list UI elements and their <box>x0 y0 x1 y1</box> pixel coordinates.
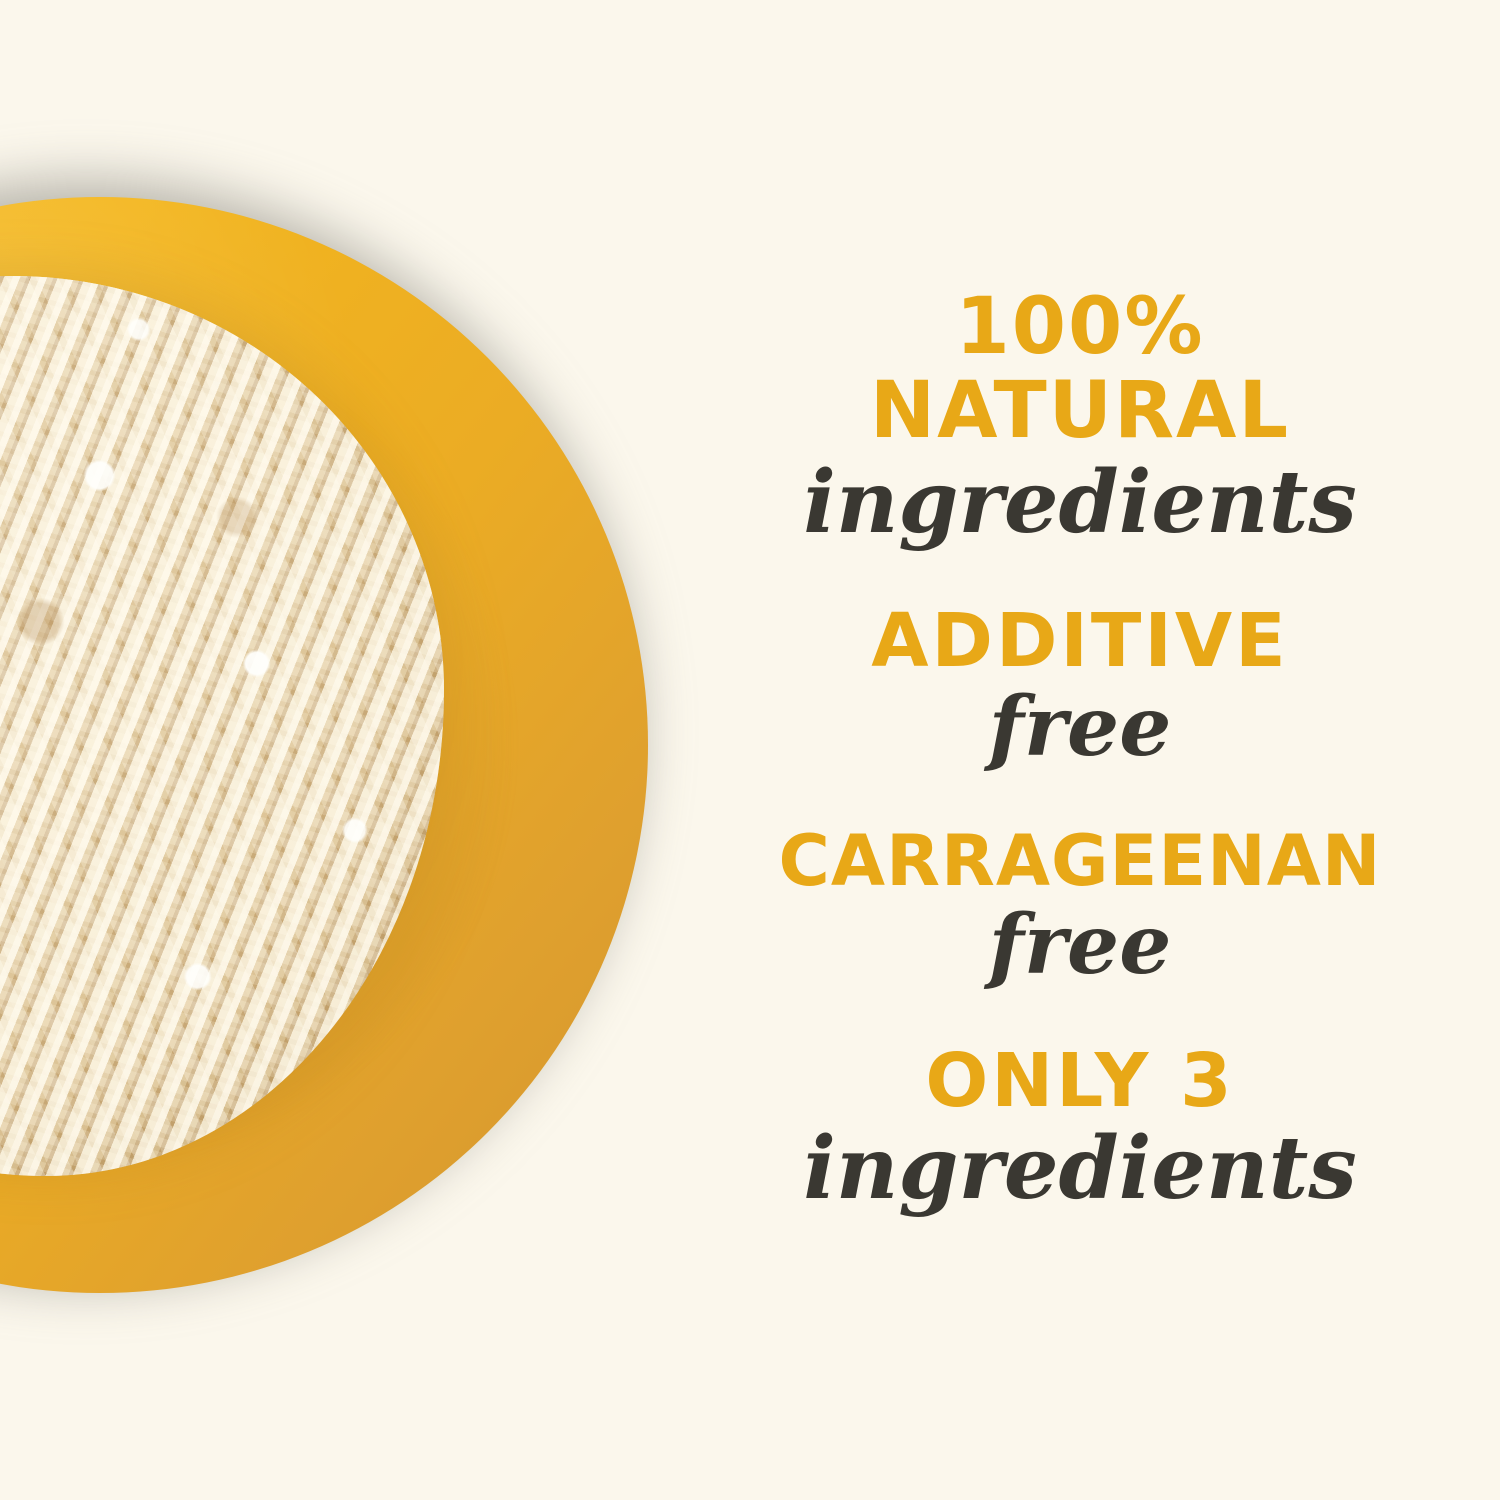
claim-headline-carrageenan: CARRAGEENAN <box>760 826 1400 896</box>
shredded-chicken-and-rice <box>0 276 444 1176</box>
claim-script-free: free <box>760 686 1400 768</box>
claims-list: 100% NATURAL ingredients ADDITIVE free C… <box>760 0 1400 1500</box>
claim-script-ingredients: ingredients <box>760 460 1400 546</box>
claim-headline-only-3: ONLY 3 <box>760 1044 1400 1118</box>
claim-natural-ingredients: 100% NATURAL ingredients <box>760 288 1400 546</box>
product-claims-banner: 100% NATURAL ingredients ADDITIVE free C… <box>0 0 1500 1500</box>
claim-headline-percent: 100% <box>760 288 1400 366</box>
claim-script-free: free <box>760 904 1400 986</box>
claim-only-3-ingredients: ONLY 3 ingredients <box>760 1044 1400 1212</box>
claim-carrageenan-free: CARRAGEENAN free <box>760 826 1400 986</box>
claim-headline-natural: NATURAL <box>760 372 1400 450</box>
claim-script-ingredients: ingredients <box>760 1126 1400 1212</box>
claim-headline-additive: ADDITIVE <box>760 604 1400 678</box>
claim-additive-free: ADDITIVE free <box>760 604 1400 768</box>
